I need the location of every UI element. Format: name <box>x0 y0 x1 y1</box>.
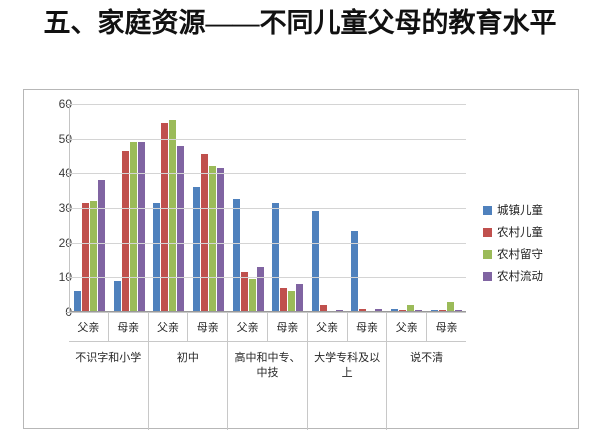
x-axis-group-label: 大学专科及以上 <box>308 342 388 430</box>
bar[interactable] <box>74 291 81 312</box>
gridline <box>70 104 466 105</box>
x-axis-sub-label: 父亲 <box>228 313 268 341</box>
bar[interactable] <box>161 123 168 312</box>
bar[interactable] <box>209 166 216 312</box>
legend-label: 农村流动 <box>497 268 543 284</box>
gridline <box>70 208 466 209</box>
y-axis-tick-mark <box>66 243 70 244</box>
slide-canvas: 五、家庭资源——不同儿童父母的教育水平 6050403020100 父亲母亲父亲… <box>0 0 600 444</box>
x-axis-group-label: 说不清 <box>387 342 466 430</box>
x-axis-sub-label: 母亲 <box>188 313 228 341</box>
x-axis-sub-label: 母亲 <box>348 313 388 341</box>
legend-color-swatch <box>483 206 492 215</box>
x-axis-group-label: 初中 <box>149 342 229 430</box>
bar[interactable] <box>312 211 319 312</box>
x-axis-group-labels-row: 不识字和小学初中高中和中专、中技大学专科及以上说不清 <box>69 341 466 430</box>
x-axis-sub-label: 母亲 <box>427 313 466 341</box>
bar[interactable] <box>169 120 176 312</box>
x-axis-group-label: 高中和中专、中技 <box>228 342 308 430</box>
x-axis-sub-label: 母亲 <box>268 313 308 341</box>
gridline <box>70 243 466 244</box>
bar[interactable] <box>130 142 137 312</box>
x-axis-sub-labels-row: 父亲母亲父亲母亲父亲母亲父亲母亲父亲母亲 <box>69 313 466 341</box>
bar[interactable] <box>217 168 224 312</box>
x-axis-sub-label: 母亲 <box>109 313 149 341</box>
x-axis-sub-label: 父亲 <box>387 313 427 341</box>
bar[interactable] <box>257 267 264 312</box>
bar[interactable] <box>153 203 160 312</box>
gridline <box>70 277 466 278</box>
chart-frame: 6050403020100 父亲母亲父亲母亲父亲母亲父亲母亲父亲母亲 不识字和小… <box>23 89 579 429</box>
legend-item[interactable]: 城镇儿童 <box>483 199 575 221</box>
gridline <box>70 173 466 174</box>
legend-color-swatch <box>483 272 492 281</box>
y-axis-tick-mark <box>66 139 70 140</box>
bar[interactable] <box>201 154 208 312</box>
bar[interactable] <box>193 187 200 312</box>
bar[interactable] <box>249 279 256 312</box>
x-axis-sub-label: 父亲 <box>308 313 348 341</box>
legend-item[interactable]: 农村儿童 <box>483 221 575 243</box>
chart-legend: 城镇儿童农村儿童农村留守农村流动 <box>483 199 575 287</box>
chart-plot-wrapper: 6050403020100 父亲母亲父亲母亲父亲母亲父亲母亲父亲母亲 不识字和小… <box>24 90 580 430</box>
bar[interactable] <box>288 291 295 312</box>
bar[interactable] <box>233 199 240 312</box>
legend-label: 农村留守 <box>497 246 543 262</box>
bar[interactable] <box>122 151 129 312</box>
legend-label: 城镇儿童 <box>497 202 543 218</box>
legend-color-swatch <box>483 228 492 237</box>
bar[interactable] <box>280 288 287 312</box>
bar[interactable] <box>272 203 279 312</box>
bar[interactable] <box>82 203 89 312</box>
gridline <box>70 139 466 140</box>
x-axis-sub-label: 父亲 <box>69 313 109 341</box>
x-axis-label-table: 父亲母亲父亲母亲父亲母亲父亲母亲父亲母亲 不识字和小学初中高中和中专、中技大学专… <box>69 312 466 429</box>
legend-item[interactable]: 农村留守 <box>483 243 575 265</box>
bar[interactable] <box>98 180 105 312</box>
bar[interactable] <box>177 146 184 312</box>
page-title: 五、家庭资源——不同儿童父母的教育水平 <box>30 6 570 41</box>
plot-area <box>69 104 466 312</box>
bar[interactable] <box>138 142 145 312</box>
bar[interactable] <box>114 281 121 312</box>
y-axis-tick-mark <box>66 277 70 278</box>
bar[interactable] <box>296 284 303 312</box>
x-axis-sub-label: 父亲 <box>149 313 189 341</box>
legend-label: 农村儿童 <box>497 224 543 240</box>
legend-color-swatch <box>483 250 492 259</box>
bar[interactable] <box>90 201 97 312</box>
x-axis-group-label: 不识字和小学 <box>69 342 149 430</box>
y-axis-tick-mark <box>66 104 70 105</box>
y-axis-tick-mark <box>66 208 70 209</box>
y-axis-tick-mark <box>66 173 70 174</box>
legend-item[interactable]: 农村流动 <box>483 265 575 287</box>
